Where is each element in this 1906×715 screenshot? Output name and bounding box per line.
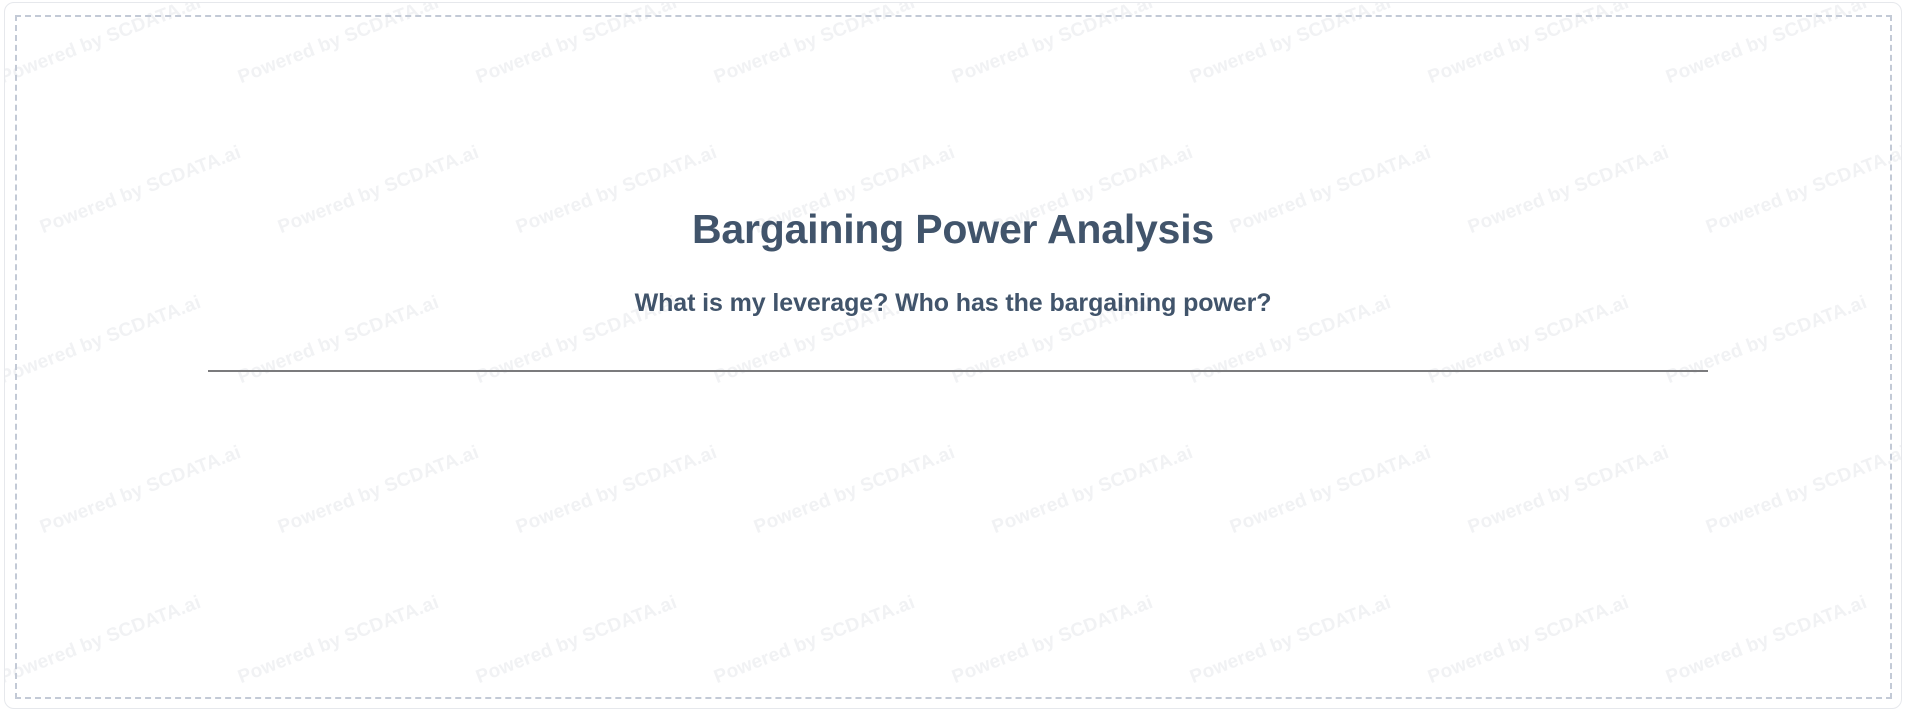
slide-content: Bargaining Power Analysis What is my lev… [5,3,1901,708]
slide-card: Powered by SCDATA.aiPowered by SCDATA.ai… [4,2,1902,709]
slide-title: Bargaining Power Analysis [5,207,1901,251]
title-divider [208,370,1708,372]
slide-subtitle: What is my leverage? Who has the bargain… [5,289,1901,318]
slide-body-area [208,395,1708,675]
